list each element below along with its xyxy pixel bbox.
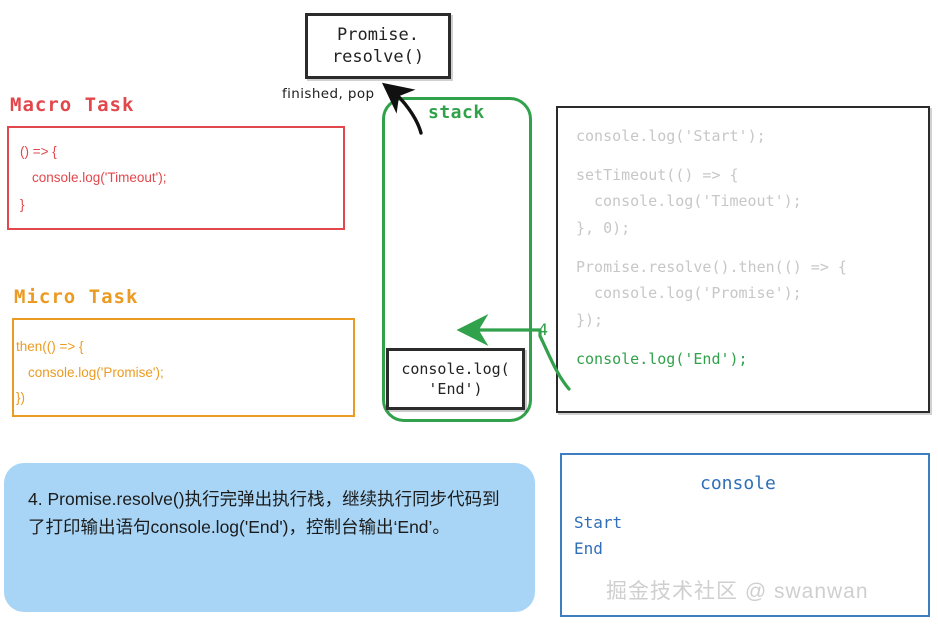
stack-frame-console-log-end: console.log( 'End'): [386, 348, 525, 410]
micro-code-line: }): [16, 385, 353, 411]
console-output-line: Start: [574, 510, 622, 536]
source-code-panel: console.log('Start');setTimeout(() => {c…: [556, 106, 930, 413]
code-line: Promise.resolve().then(() => {: [576, 254, 928, 281]
step-number-label: 4: [538, 320, 548, 339]
micro-task-label: Micro Task: [14, 286, 138, 308]
promise-box-line-2: resolve(): [332, 46, 424, 68]
macro-task-queue-box: () => { console.log('Timeout'); }: [7, 126, 345, 230]
promise-resolve-popped-box: Promise. resolve(): [305, 13, 451, 79]
micro-task-code: then(() => { console.log('Promise'); }): [14, 320, 353, 411]
console-output-line: End: [574, 536, 622, 562]
console-output-lines: StartEnd: [574, 510, 622, 562]
stack-frame-line-1: console.log(: [401, 359, 509, 379]
code-line: }, 0);: [576, 215, 928, 242]
micro-code-line: then(() => {: [16, 334, 353, 360]
code-blank-line: [576, 150, 928, 162]
macro-code-line: console.log('Timeout');: [20, 165, 343, 191]
watermark-label: 掘金技术社区 @ swanwan: [606, 575, 869, 605]
code-blank-line: [576, 242, 928, 254]
code-line: console.log('Promise');: [576, 280, 928, 307]
code-line: });: [576, 307, 928, 334]
macro-task-label: Macro Task: [10, 94, 134, 116]
explanation-bubble: 4. Promise.resolve()执行完弹出执行栈，继续执行同步代码到了打…: [4, 463, 535, 612]
stack-frame-line-2: 'End'): [428, 379, 482, 399]
micro-code-line: console.log('Promise');: [16, 360, 353, 386]
explanation-text: 4. Promise.resolve()执行完弹出执行栈，继续执行同步代码到了打…: [4, 463, 535, 542]
console-title: console: [700, 473, 776, 494]
code-line-highlighted: console.log('End');: [576, 346, 928, 373]
macro-code-line: () => {: [20, 139, 343, 165]
code-line: console.log('Timeout');: [576, 188, 928, 215]
code-line: setTimeout(() => {: [576, 162, 928, 189]
promise-box-line-1: Promise.: [337, 24, 419, 46]
stack-label: stack: [428, 102, 485, 123]
macro-code-line: }: [20, 192, 343, 218]
diagram-canvas: Promise. resolve() finished, pop Macro T…: [0, 0, 938, 627]
code-blank-line: [576, 334, 928, 346]
macro-task-code: () => { console.log('Timeout'); }: [9, 128, 343, 218]
finished-pop-label: finished, pop: [282, 86, 374, 102]
micro-task-queue-box: then(() => { console.log('Promise'); }): [12, 318, 355, 417]
source-code-lines: console.log('Start');setTimeout(() => {c…: [558, 108, 928, 373]
code-line: console.log('Start');: [576, 123, 928, 150]
